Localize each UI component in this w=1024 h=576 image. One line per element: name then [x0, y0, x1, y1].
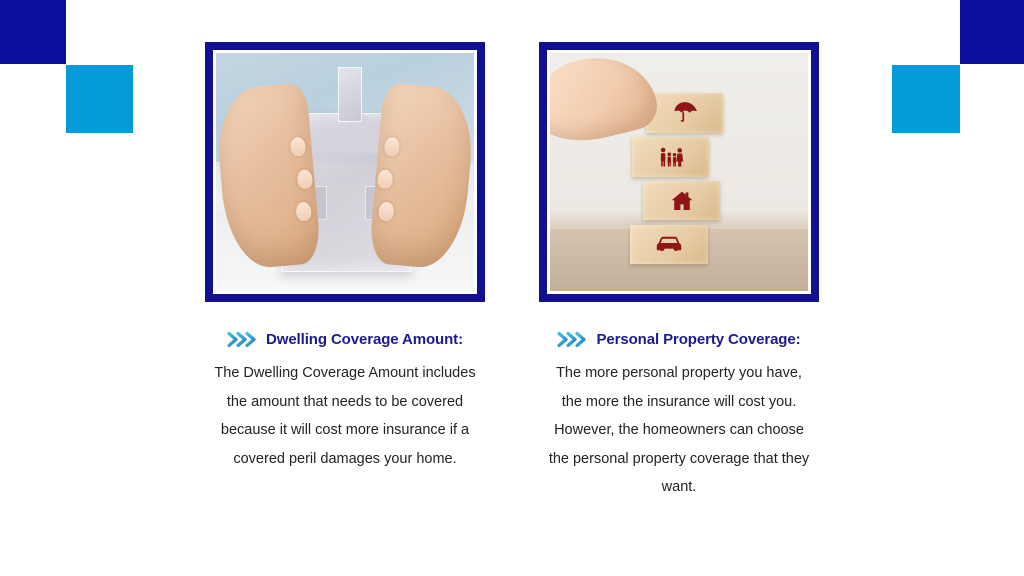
body-text-dwelling-coverage: The Dwelling Coverage Amount includes th…	[211, 359, 479, 473]
double-chevron-right-icon	[557, 331, 587, 348]
family-icon	[657, 145, 685, 169]
umbrella-icon	[672, 100, 698, 126]
block-car	[630, 225, 707, 264]
photo-frame-dwelling	[205, 42, 485, 302]
block-house	[643, 181, 720, 220]
heading-personal-property-coverage: Personal Property Coverage:	[596, 332, 800, 347]
heading-row-personal-property: Personal Property Coverage:	[557, 331, 800, 348]
heading-dwelling-coverage: Dwelling Coverage Amount:	[266, 332, 463, 347]
car-icon	[655, 234, 683, 254]
photo-hand-stacking-insurance-blocks	[550, 53, 808, 291]
column-personal-property-coverage: Personal Property Coverage: The more per…	[539, 42, 819, 576]
content-columns: Dwelling Coverage Amount: The Dwelling C…	[0, 0, 1024, 576]
block-umbrella	[646, 93, 723, 132]
glass-house-chimney	[338, 67, 362, 122]
block-family	[632, 137, 709, 176]
body-text-personal-property-coverage: The more personal property you have, the…	[545, 359, 813, 502]
photo-hands-protecting-glass-house	[216, 53, 474, 291]
house-icon	[669, 189, 695, 213]
column-dwelling-coverage: Dwelling Coverage Amount: The Dwelling C…	[205, 42, 485, 576]
photo-frame-personal-property	[539, 42, 819, 302]
heading-row-dwelling: Dwelling Coverage Amount:	[227, 331, 463, 348]
double-chevron-right-icon	[227, 331, 257, 348]
